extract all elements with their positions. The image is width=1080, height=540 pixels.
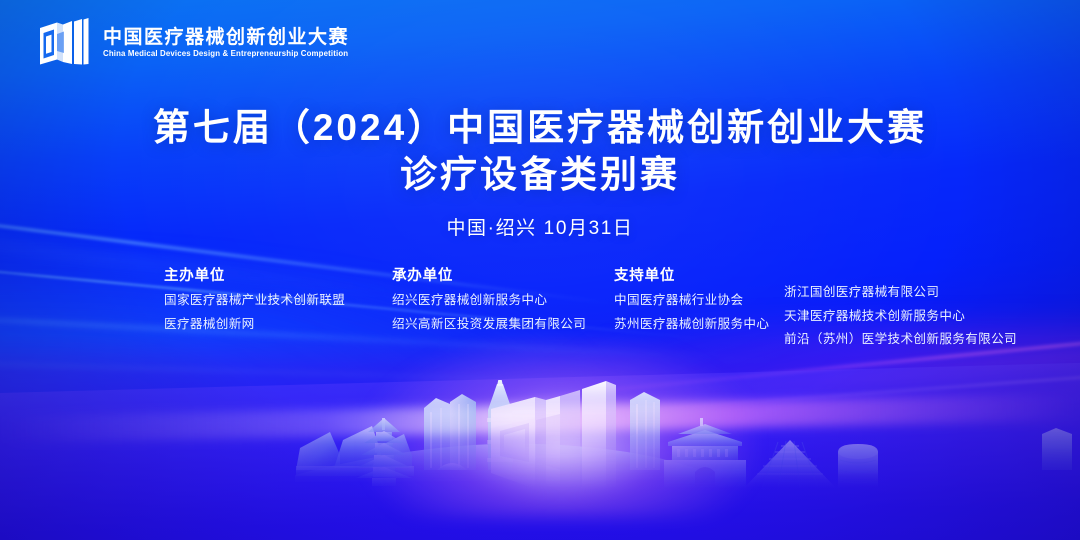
competition-logo[interactable]: 中国医疗器械创新创业大赛 China Medical Devices Desig…: [38, 18, 358, 68]
organizer-heading: 承办单位: [392, 264, 614, 285]
organizer-item: 国家医疗器械产业技术创新联盟: [164, 294, 392, 307]
organizer-column-host: 主办单位 国家医疗器械产业技术创新联盟 医疗器械创新网: [46, 264, 392, 341]
logo-chinese-name: 中国医疗器械创新创业大赛: [103, 28, 358, 48]
organizer-heading: 支持单位: [614, 264, 784, 285]
organizer-item: 绍兴医疗器械创新服务中心: [392, 294, 614, 307]
title-line-1: 第七届（2024）中国医疗器械创新创业大赛: [0, 104, 1080, 151]
organizer-column-supporter: 支持单位 中国医疗器械行业协会 苏州医疗器械创新服务中心: [614, 264, 784, 341]
title-line-2: 诊疗设备类别赛: [0, 151, 1080, 198]
poster-canvas: 中国医疗器械创新创业大赛 China Medical Devices Desig…: [0, 0, 1080, 540]
event-location-date: 中国·绍兴 10月31日: [0, 213, 1080, 240]
open-book-door-emblem-icon: [38, 18, 90, 68]
organizer-column-undertaker: 承办单位 绍兴医疗器械创新服务中心 绍兴高新区投资发展集团有限公司: [392, 264, 614, 341]
organizers-block: 主办单位 国家医疗器械产业技术创新联盟 医疗器械创新网 承办单位 绍兴医疗器械创…: [0, 264, 1080, 357]
organizer-item: 医疗器械创新网: [164, 318, 392, 331]
organizer-item: 中国医疗器械行业协会: [614, 294, 784, 307]
logo-english-name: China Medical Devices Design & Entrepren…: [103, 49, 348, 58]
organizer-item: 天津医疗器械技术创新服务中心: [784, 310, 1034, 323]
organizer-item: 苏州医疗器械创新服务中心: [614, 318, 784, 331]
headline-block: 第七届（2024）中国医疗器械创新创业大赛 诊疗设备类别赛 中国·绍兴 10月3…: [0, 104, 1080, 240]
organizer-column-supporter-extra: 浙江国创医疗器械有限公司 天津医疗器械技术创新服务中心 前沿（苏州）医学技术创新…: [784, 264, 1034, 357]
organizer-heading: 主办单位: [164, 264, 392, 285]
organizer-item: 绍兴高新区投资发展集团有限公司: [392, 318, 614, 331]
organizer-item: 浙江国创医疗器械有限公司: [784, 286, 1034, 299]
organizer-item: 前沿（苏州）医学技术创新服务有限公司: [784, 333, 1034, 346]
